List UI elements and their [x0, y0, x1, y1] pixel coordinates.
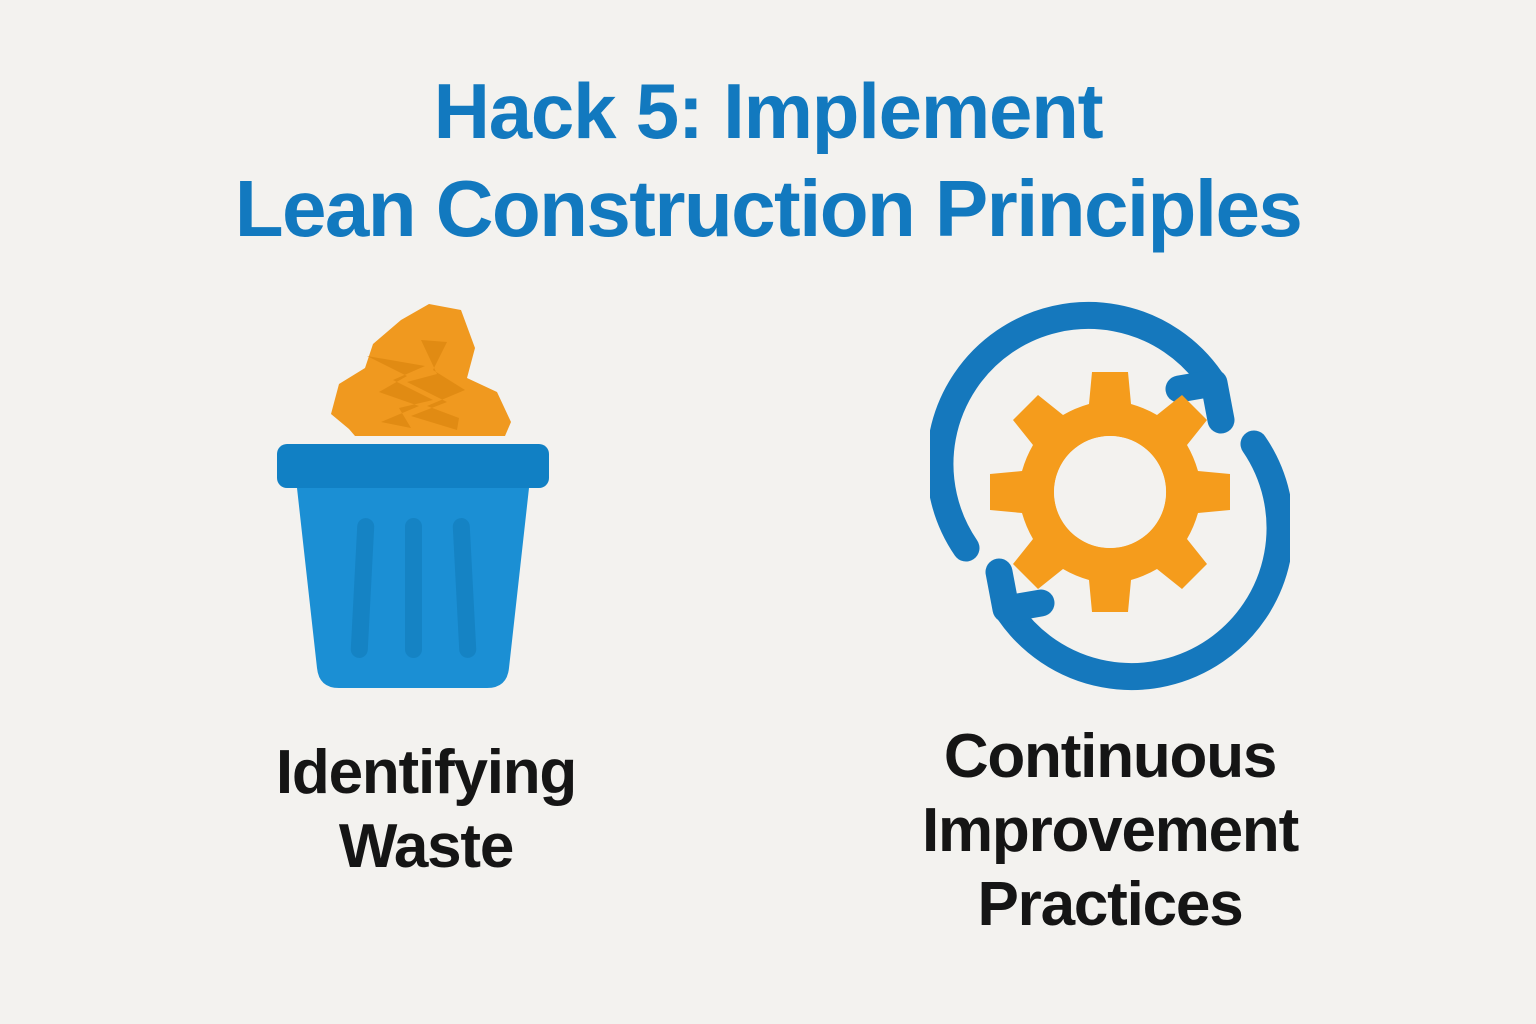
crumpled-paper-shape [331, 304, 511, 436]
infographic-slide: Hack 5: Implement Lean Construction Prin… [0, 0, 1536, 1024]
trash-can-with-crumpled-paper-icon [246, 296, 606, 696]
panel-identifying-waste: Identifying Waste [116, 296, 736, 884]
page-title: Hack 5: Implement Lean Construction Prin… [0, 62, 1536, 258]
trash-can-icon-svg [261, 296, 591, 696]
panel-continuous-improvement: Continuous Improvement Practices [800, 296, 1420, 942]
panel-label-continuous-improvement: Continuous Improvement Practices [922, 720, 1298, 942]
trash-can-lid [277, 444, 549, 488]
gear-shape [990, 372, 1230, 612]
gear-with-circular-arrows-icon [930, 296, 1290, 696]
stripe-2 [405, 518, 422, 658]
gear-center-hole [1054, 436, 1166, 548]
title-line-2: Lean Construction Principles [0, 160, 1536, 258]
panel-label-identifying-waste: Identifying Waste [276, 736, 576, 884]
gear-cycle-icon-svg [930, 296, 1290, 696]
panel-row: Identifying Waste [0, 296, 1536, 996]
title-line-1: Hack 5: Implement [0, 62, 1536, 160]
